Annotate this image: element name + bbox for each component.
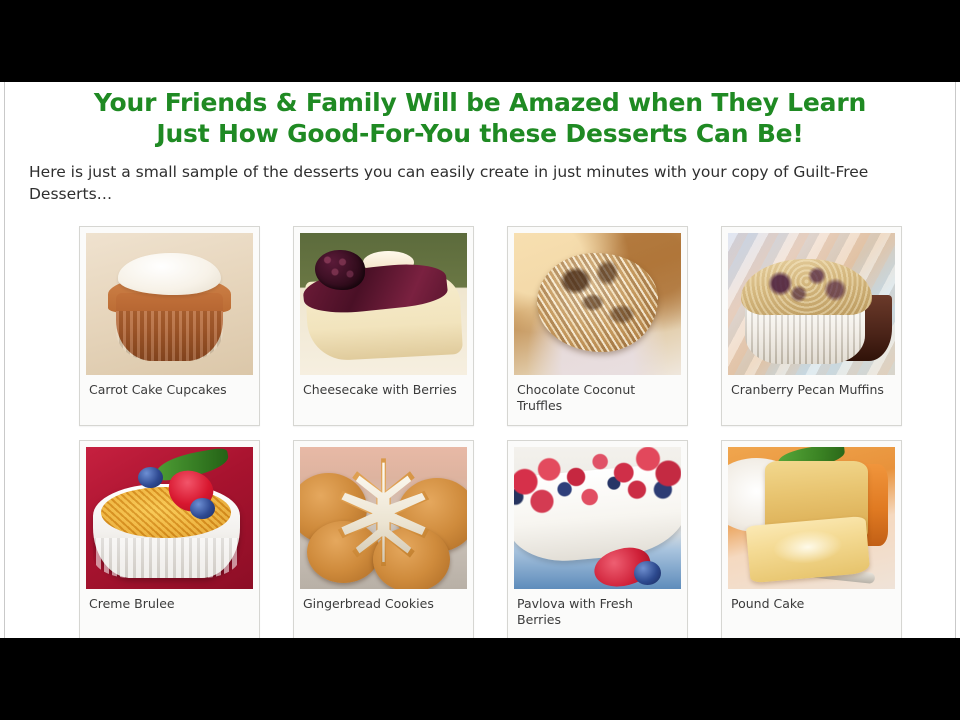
dessert-card-gingerbread-cookies[interactable]: Gingerbread Cookies	[293, 440, 474, 638]
headline-line-2: Just How Good-For-You these Desserts Can…	[45, 119, 915, 150]
gingerbread-cookies-photo	[300, 447, 467, 589]
headline-line-1: Your Friends & Family Will be Amazed whe…	[45, 88, 915, 119]
letterbox-bar-top	[0, 0, 960, 82]
gallery-row: Carrot Cake Cupcakes Cheesecake with Ber…	[79, 226, 903, 426]
dessert-card-caption: Chocolate Coconut Truffles	[508, 375, 687, 425]
dessert-card-pavlova-with-fresh-berries[interactable]: Pavlova with Fresh Berries	[507, 440, 688, 638]
cranberry-pecan-muffins-photo	[728, 233, 895, 375]
letterbox-bar-bottom	[0, 638, 960, 720]
dessert-card-cranberry-pecan-muffins[interactable]: Cranberry Pecan Muffins	[721, 226, 902, 426]
page-headline: Your Friends & Family Will be Amazed whe…	[5, 82, 955, 149]
creme-brulee-photo	[86, 447, 253, 589]
chocolate-coconut-truffles-photo	[514, 233, 681, 375]
dessert-card-caption: Carrot Cake Cupcakes	[80, 375, 259, 409]
dessert-card-caption: Cheesecake with Berries	[294, 375, 473, 409]
dessert-card-carrot-cake-cupcakes[interactable]: Carrot Cake Cupcakes	[79, 226, 260, 426]
dessert-gallery: Carrot Cake Cupcakes Cheesecake with Ber…	[79, 226, 903, 638]
dessert-card-caption: Gingerbread Cookies	[294, 589, 473, 623]
intro-paragraph: Here is just a small sample of the desse…	[5, 149, 955, 205]
dessert-card-chocolate-coconut-truffles[interactable]: Chocolate Coconut Truffles	[507, 226, 688, 426]
carrot-cake-cupcake-photo	[86, 233, 253, 375]
dessert-card-caption: Pavlova with Fresh Berries	[508, 589, 687, 638]
dessert-card-creme-brulee[interactable]: Creme Brulee	[79, 440, 260, 638]
dessert-card-caption: Cranberry Pecan Muffins	[722, 375, 901, 409]
sales-page: Your Friends & Family Will be Amazed whe…	[0, 82, 960, 638]
page-content-area: Your Friends & Family Will be Amazed whe…	[4, 82, 956, 638]
video-frame: Your Friends & Family Will be Amazed whe…	[0, 0, 960, 720]
pavlova-with-fresh-berries-photo	[514, 447, 681, 589]
cheesecake-with-berries-photo	[300, 233, 467, 375]
dessert-card-pound-cake[interactable]: Pound Cake	[721, 440, 902, 638]
dessert-card-caption: Pound Cake	[722, 589, 901, 623]
gallery-row: Creme Brulee	[79, 440, 903, 638]
dessert-card-caption: Creme Brulee	[80, 589, 259, 623]
pound-cake-photo	[728, 447, 895, 589]
dessert-card-cheesecake-with-berries[interactable]: Cheesecake with Berries	[293, 226, 474, 426]
